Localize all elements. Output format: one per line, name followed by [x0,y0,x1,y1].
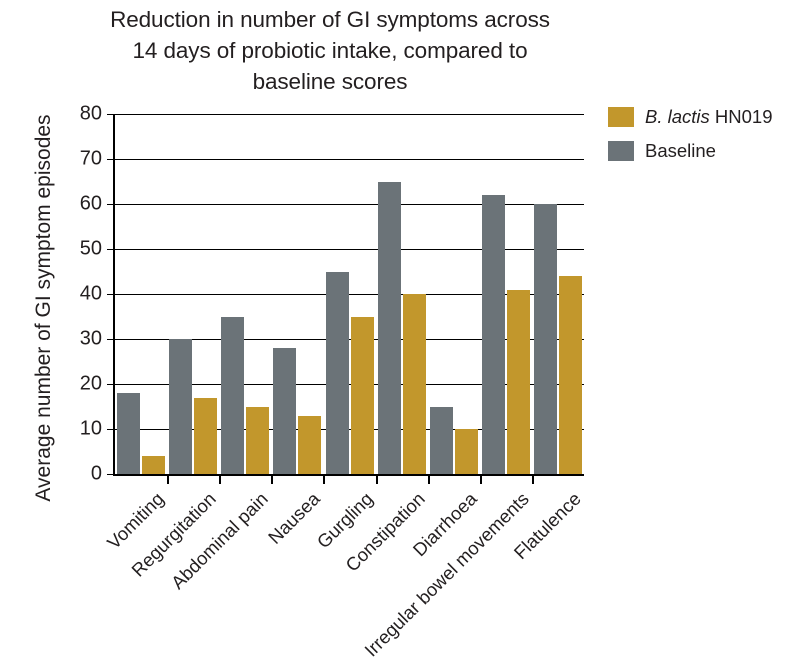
y-axis-tick-label: 60 [80,193,102,216]
bar[interactable] [142,456,165,474]
y-axis-tick [107,114,115,115]
y-axis-tick [107,339,115,340]
legend-item[interactable]: B. lactis HN019 [608,106,794,128]
legend-label: B. lactis HN019 [645,106,773,128]
y-axis-tick-label: 70 [80,148,102,171]
legend-label-species: B. lactis [645,106,710,127]
legend-color-swatch [608,141,634,161]
y-axis-tick-label: 50 [80,238,102,261]
y-axis-tick-label: 0 [91,463,102,486]
legend-item[interactable]: Baseline [608,140,794,162]
legend-label: Baseline [645,140,716,162]
y-axis-tick [107,294,115,295]
y-axis-tick-label: 30 [80,328,102,351]
y-axis-tick [107,429,115,430]
y-axis-tick-label: 80 [80,103,102,126]
y-axis-tick [107,249,115,250]
bar[interactable] [117,393,140,474]
y-axis-tick [107,204,115,205]
y-axis-tick-label: 20 [80,373,102,396]
y-axis-tick-label: 40 [80,283,102,306]
legend: B. lactis HN019Baseline [608,106,794,174]
chart-title: Reduction in number of GI symptoms acros… [60,4,600,97]
legend-color-swatch [608,107,634,127]
y-axis-title: Average number of GI symptom episodes [32,98,56,518]
y-axis-tick [107,159,115,160]
y-axis-tick-label: 10 [80,418,102,441]
bar[interactable] [378,182,401,475]
bar[interactable] [534,204,557,474]
y-axis-tick [107,474,115,475]
y-axis-tick [107,384,115,385]
